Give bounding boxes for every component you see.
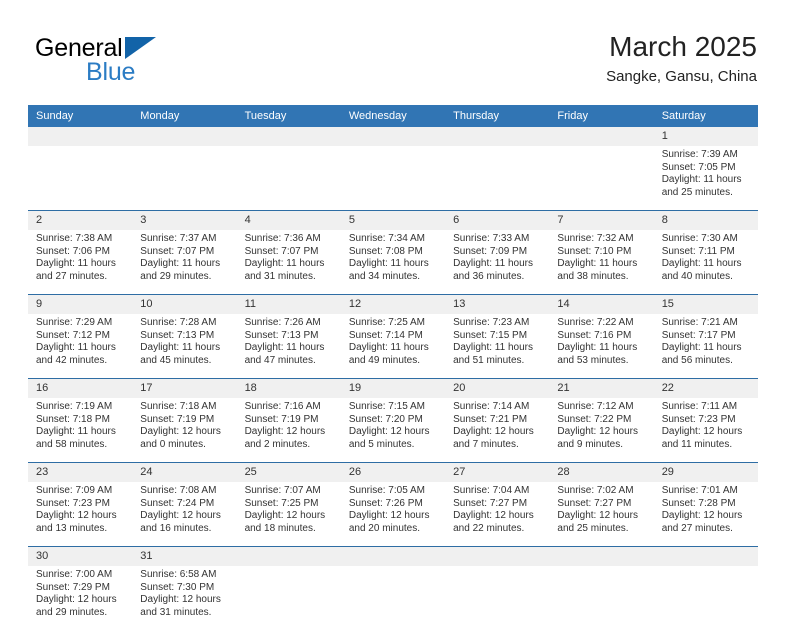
daylight-text-line1: Daylight: 12 hours — [36, 510, 126, 523]
daylight-text-line2: and 9 minutes. — [557, 439, 647, 452]
day-info: Sunrise: 7:00 AM Sunset: 7:29 PM Dayligh… — [28, 566, 132, 630]
sunset-text: Sunset: 7:20 PM — [349, 414, 439, 427]
sunset-text: Sunset: 7:10 PM — [557, 246, 647, 259]
sunrise-text: Sunrise: 7:38 AM — [36, 233, 126, 246]
day-number: 24 — [132, 463, 236, 482]
sunset-text: Sunset: 7:30 PM — [140, 582, 230, 595]
day-number: 15 — [654, 295, 758, 314]
daylight-text-line2: and 5 minutes. — [349, 439, 439, 452]
day-number — [445, 547, 549, 566]
calendar-day-cell[interactable] — [549, 547, 653, 630]
day-number: 21 — [549, 379, 653, 398]
day-number: 11 — [237, 295, 341, 314]
sunrise-text: Sunrise: 7:37 AM — [140, 233, 230, 246]
day-number: 17 — [132, 379, 236, 398]
day-info: Sunrise: 7:38 AM Sunset: 7:06 PM Dayligh… — [28, 230, 132, 294]
page-subtitle: Sangke, Gansu, China — [606, 66, 757, 88]
daylight-text-line1: Daylight: 11 hours — [36, 258, 126, 271]
daylight-text-line2: and 38 minutes. — [557, 271, 647, 284]
day-number: 1 — [654, 127, 758, 146]
daylight-text-line1: Daylight: 11 hours — [245, 342, 335, 355]
sunrise-text: Sunrise: 7:01 AM — [662, 485, 752, 498]
sunrise-text: Sunrise: 7:11 AM — [662, 401, 752, 414]
day-info: Sunrise: 7:18 AM Sunset: 7:19 PM Dayligh… — [132, 398, 236, 462]
daylight-text-line2: and 45 minutes. — [140, 355, 230, 368]
daylight-text-line2: and 40 minutes. — [662, 271, 752, 284]
calendar-day-cell[interactable]: 17 Sunrise: 7:18 AM Sunset: 7:19 PM Dayl… — [132, 379, 236, 463]
day-number: 23 — [28, 463, 132, 482]
daylight-text-line2: and 25 minutes. — [557, 523, 647, 536]
calendar-day-cell[interactable]: 29 Sunrise: 7:01 AM Sunset: 7:28 PM Dayl… — [654, 463, 758, 547]
sunset-text: Sunset: 7:05 PM — [662, 162, 752, 175]
calendar-day-cell[interactable] — [654, 547, 758, 630]
sunrise-text: Sunrise: 7:16 AM — [245, 401, 335, 414]
sunrise-text: Sunrise: 7:26 AM — [245, 317, 335, 330]
day-number: 12 — [341, 295, 445, 314]
logo-text-blue: Blue — [86, 58, 135, 87]
day-number: 14 — [549, 295, 653, 314]
daylight-text-line2: and 49 minutes. — [349, 355, 439, 368]
day-info: Sunrise: 7:02 AM Sunset: 7:27 PM Dayligh… — [549, 482, 653, 546]
sunset-text: Sunset: 7:17 PM — [662, 330, 752, 343]
logo-triangle-icon — [125, 37, 156, 59]
sunset-text: Sunset: 7:26 PM — [349, 498, 439, 511]
sunset-text: Sunset: 7:27 PM — [557, 498, 647, 511]
day-number: 6 — [445, 211, 549, 230]
daylight-text-line2: and 22 minutes. — [453, 523, 543, 536]
daylight-text-line2: and 27 minutes. — [36, 271, 126, 284]
calendar-day-cell[interactable] — [237, 127, 341, 211]
daylight-text-line1: Daylight: 12 hours — [245, 510, 335, 523]
day-info: Sunrise: 7:22 AM Sunset: 7:16 PM Dayligh… — [549, 314, 653, 378]
daylight-text-line1: Daylight: 11 hours — [140, 258, 230, 271]
calendar-day-cell[interactable]: 26 Sunrise: 7:05 AM Sunset: 7:26 PM Dayl… — [341, 463, 445, 547]
weekday-header-wednesday: Wednesday — [341, 105, 445, 127]
day-number — [341, 547, 445, 566]
daylight-text-line2: and 53 minutes. — [557, 355, 647, 368]
day-info: Sunrise: 7:15 AM Sunset: 7:20 PM Dayligh… — [341, 398, 445, 462]
sunrise-sunset-calendar: Sunday Monday Tuesday Wednesday Thursday… — [28, 105, 758, 630]
day-number — [549, 547, 653, 566]
calendar-day-cell[interactable]: 8 Sunrise: 7:30 AM Sunset: 7:11 PM Dayli… — [654, 211, 758, 295]
day-info: Sunrise: 7:19 AM Sunset: 7:18 PM Dayligh… — [28, 398, 132, 462]
day-info — [445, 146, 549, 210]
day-number: 19 — [341, 379, 445, 398]
daylight-text-line2: and 18 minutes. — [245, 523, 335, 536]
daylight-text-line1: Daylight: 12 hours — [453, 426, 543, 439]
day-number: 4 — [237, 211, 341, 230]
daylight-text-line2: and 25 minutes. — [662, 187, 752, 200]
calendar-week-row: 2 Sunrise: 7:38 AM Sunset: 7:06 PM Dayli… — [28, 211, 758, 295]
day-number — [445, 127, 549, 146]
day-number — [237, 127, 341, 146]
day-number: 5 — [341, 211, 445, 230]
sunrise-text: Sunrise: 7:34 AM — [349, 233, 439, 246]
daylight-text-line2: and 56 minutes. — [662, 355, 752, 368]
day-info: Sunrise: 7:12 AM Sunset: 7:22 PM Dayligh… — [549, 398, 653, 462]
sunrise-text: Sunrise: 7:14 AM — [453, 401, 543, 414]
calendar-day-cell[interactable] — [445, 127, 549, 211]
daylight-text-line2: and 31 minutes. — [245, 271, 335, 284]
daylight-text-line2: and 11 minutes. — [662, 439, 752, 452]
calendar-day-cell[interactable]: 24 Sunrise: 7:08 AM Sunset: 7:24 PM Dayl… — [132, 463, 236, 547]
day-number — [132, 127, 236, 146]
daylight-text-line1: Daylight: 12 hours — [557, 426, 647, 439]
sunset-text: Sunset: 7:08 PM — [349, 246, 439, 259]
day-info: Sunrise: 7:37 AM Sunset: 7:07 PM Dayligh… — [132, 230, 236, 294]
sunset-text: Sunset: 7:06 PM — [36, 246, 126, 259]
sunrise-text: Sunrise: 6:58 AM — [140, 569, 230, 582]
day-number: 31 — [132, 547, 236, 566]
calendar-day-cell[interactable]: 28 Sunrise: 7:02 AM Sunset: 7:27 PM Dayl… — [549, 463, 653, 547]
sunrise-text: Sunrise: 7:12 AM — [557, 401, 647, 414]
day-info — [341, 146, 445, 210]
daylight-text-line2: and 16 minutes. — [140, 523, 230, 536]
day-info: Sunrise: 7:11 AM Sunset: 7:23 PM Dayligh… — [654, 398, 758, 462]
sunset-text: Sunset: 7:07 PM — [140, 246, 230, 259]
day-info — [237, 146, 341, 210]
daylight-text-line1: Daylight: 12 hours — [36, 594, 126, 607]
daylight-text-line2: and 29 minutes. — [36, 607, 126, 620]
calendar-day-cell[interactable]: 6 Sunrise: 7:33 AM Sunset: 7:09 PM Dayli… — [445, 211, 549, 295]
day-number: 2 — [28, 211, 132, 230]
sunrise-text: Sunrise: 7:32 AM — [557, 233, 647, 246]
calendar-day-cell[interactable]: 31 Sunrise: 6:58 AM Sunset: 7:30 PM Dayl… — [132, 547, 236, 630]
daylight-text-line1: Daylight: 12 hours — [349, 510, 439, 523]
weekday-header-thursday: Thursday — [445, 105, 549, 127]
weekday-header-saturday: Saturday — [654, 105, 758, 127]
day-info: Sunrise: 6:58 AM Sunset: 7:30 PM Dayligh… — [132, 566, 236, 630]
sunrise-text: Sunrise: 7:19 AM — [36, 401, 126, 414]
sunrise-text: Sunrise: 7:00 AM — [36, 569, 126, 582]
calendar-day-cell[interactable]: 13 Sunrise: 7:23 AM Sunset: 7:15 PM Dayl… — [445, 295, 549, 379]
day-info: Sunrise: 7:25 AM Sunset: 7:14 PM Dayligh… — [341, 314, 445, 378]
daylight-text-line2: and 27 minutes. — [662, 523, 752, 536]
daylight-text-line1: Daylight: 11 hours — [245, 258, 335, 271]
sunrise-text: Sunrise: 7:25 AM — [349, 317, 439, 330]
calendar-day-cell[interactable]: 12 Sunrise: 7:25 AM Sunset: 7:14 PM Dayl… — [341, 295, 445, 379]
day-info: Sunrise: 7:26 AM Sunset: 7:13 PM Dayligh… — [237, 314, 341, 378]
daylight-text-line2: and 51 minutes. — [453, 355, 543, 368]
calendar-day-cell[interactable]: 3 Sunrise: 7:37 AM Sunset: 7:07 PM Dayli… — [132, 211, 236, 295]
day-info — [132, 146, 236, 210]
title-block: March 2025 Sangke, Gansu, China — [606, 30, 757, 88]
daylight-text-line2: and 13 minutes. — [36, 523, 126, 536]
calendar-day-cell[interactable]: 10 Sunrise: 7:28 AM Sunset: 7:13 PM Dayl… — [132, 295, 236, 379]
calendar-body: 1 Sunrise: 7:39 AM Sunset: 7:05 PM Dayli… — [28, 127, 758, 630]
daylight-text-line2: and 36 minutes. — [453, 271, 543, 284]
day-number: 29 — [654, 463, 758, 482]
sunrise-text: Sunrise: 7:29 AM — [36, 317, 126, 330]
day-info: Sunrise: 7:05 AM Sunset: 7:26 PM Dayligh… — [341, 482, 445, 546]
calendar-day-cell[interactable]: 16 Sunrise: 7:19 AM Sunset: 7:18 PM Dayl… — [28, 379, 132, 463]
day-number: 7 — [549, 211, 653, 230]
day-info: Sunrise: 7:32 AM Sunset: 7:10 PM Dayligh… — [549, 230, 653, 294]
sunset-text: Sunset: 7:19 PM — [245, 414, 335, 427]
calendar-day-cell[interactable] — [28, 127, 132, 211]
calendar-week-row: 16 Sunrise: 7:19 AM Sunset: 7:18 PM Dayl… — [28, 379, 758, 463]
day-number — [28, 127, 132, 146]
day-info: Sunrise: 7:01 AM Sunset: 7:28 PM Dayligh… — [654, 482, 758, 546]
day-info: Sunrise: 7:08 AM Sunset: 7:24 PM Dayligh… — [132, 482, 236, 546]
calendar-day-cell[interactable]: 30 Sunrise: 7:00 AM Sunset: 7:29 PM Dayl… — [28, 547, 132, 630]
day-info: Sunrise: 7:34 AM Sunset: 7:08 PM Dayligh… — [341, 230, 445, 294]
day-info: Sunrise: 7:14 AM Sunset: 7:21 PM Dayligh… — [445, 398, 549, 462]
sunrise-text: Sunrise: 7:15 AM — [349, 401, 439, 414]
day-number: 26 — [341, 463, 445, 482]
sunset-text: Sunset: 7:29 PM — [36, 582, 126, 595]
sunset-text: Sunset: 7:14 PM — [349, 330, 439, 343]
day-info — [445, 566, 549, 630]
daylight-text-line1: Daylight: 11 hours — [662, 258, 752, 271]
calendar-day-cell[interactable]: 18 Sunrise: 7:16 AM Sunset: 7:19 PM Dayl… — [237, 379, 341, 463]
day-number: 27 — [445, 463, 549, 482]
page-title: March 2025 — [606, 30, 757, 64]
sunset-text: Sunset: 7:24 PM — [140, 498, 230, 511]
daylight-text-line2: and 20 minutes. — [349, 523, 439, 536]
sunrise-text: Sunrise: 7:22 AM — [557, 317, 647, 330]
calendar-day-cell[interactable]: 22 Sunrise: 7:11 AM Sunset: 7:23 PM Dayl… — [654, 379, 758, 463]
day-number: 8 — [654, 211, 758, 230]
sunrise-text: Sunrise: 7:36 AM — [245, 233, 335, 246]
day-number — [549, 127, 653, 146]
day-info: Sunrise: 7:04 AM Sunset: 7:27 PM Dayligh… — [445, 482, 549, 546]
calendar-week-row: 30 Sunrise: 7:00 AM Sunset: 7:29 PM Dayl… — [28, 547, 758, 630]
sunrise-text: Sunrise: 7:21 AM — [662, 317, 752, 330]
calendar-week-row: 1 Sunrise: 7:39 AM Sunset: 7:05 PM Dayli… — [28, 127, 758, 211]
calendar-week-row: 9 Sunrise: 7:29 AM Sunset: 7:12 PM Dayli… — [28, 295, 758, 379]
daylight-text-line2: and 34 minutes. — [349, 271, 439, 284]
sunset-text: Sunset: 7:21 PM — [453, 414, 543, 427]
day-info: Sunrise: 7:09 AM Sunset: 7:23 PM Dayligh… — [28, 482, 132, 546]
calendar-week-row: 23 Sunrise: 7:09 AM Sunset: 7:23 PM Dayl… — [28, 463, 758, 547]
sunset-text: Sunset: 7:13 PM — [140, 330, 230, 343]
day-info — [28, 146, 132, 210]
weekday-header-monday: Monday — [132, 105, 236, 127]
daylight-text-line1: Daylight: 12 hours — [140, 426, 230, 439]
day-number: 28 — [549, 463, 653, 482]
sunset-text: Sunset: 7:07 PM — [245, 246, 335, 259]
day-info: Sunrise: 7:36 AM Sunset: 7:07 PM Dayligh… — [237, 230, 341, 294]
calendar-day-cell[interactable]: 23 Sunrise: 7:09 AM Sunset: 7:23 PM Dayl… — [28, 463, 132, 547]
weekday-header-sunday: Sunday — [28, 105, 132, 127]
daylight-text-line2: and 47 minutes. — [245, 355, 335, 368]
sunset-text: Sunset: 7:11 PM — [662, 246, 752, 259]
sunrise-text: Sunrise: 7:05 AM — [349, 485, 439, 498]
sunset-text: Sunset: 7:23 PM — [662, 414, 752, 427]
sunrise-text: Sunrise: 7:04 AM — [453, 485, 543, 498]
daylight-text-line1: Daylight: 12 hours — [349, 426, 439, 439]
day-info: Sunrise: 7:16 AM Sunset: 7:19 PM Dayligh… — [237, 398, 341, 462]
daylight-text-line1: Daylight: 11 hours — [662, 342, 752, 355]
calendar-day-cell[interactable]: 9 Sunrise: 7:29 AM Sunset: 7:12 PM Dayli… — [28, 295, 132, 379]
sunset-text: Sunset: 7:15 PM — [453, 330, 543, 343]
daylight-text-line1: Daylight: 12 hours — [662, 510, 752, 523]
calendar-day-cell[interactable]: 25 Sunrise: 7:07 AM Sunset: 7:25 PM Dayl… — [237, 463, 341, 547]
sunset-text: Sunset: 7:09 PM — [453, 246, 543, 259]
calendar-header-row: Sunday Monday Tuesday Wednesday Thursday… — [28, 105, 758, 127]
day-number — [654, 547, 758, 566]
sunrise-text: Sunrise: 7:07 AM — [245, 485, 335, 498]
sunrise-text: Sunrise: 7:02 AM — [557, 485, 647, 498]
calendar-day-cell[interactable]: 5 Sunrise: 7:34 AM Sunset: 7:08 PM Dayli… — [341, 211, 445, 295]
calendar-day-cell[interactable]: 14 Sunrise: 7:22 AM Sunset: 7:16 PM Dayl… — [549, 295, 653, 379]
sunset-text: Sunset: 7:23 PM — [36, 498, 126, 511]
calendar-day-cell[interactable]: 4 Sunrise: 7:36 AM Sunset: 7:07 PM Dayli… — [237, 211, 341, 295]
day-info: Sunrise: 7:28 AM Sunset: 7:13 PM Dayligh… — [132, 314, 236, 378]
day-number — [237, 547, 341, 566]
calendar-day-cell[interactable] — [132, 127, 236, 211]
weekday-header-friday: Friday — [549, 105, 653, 127]
sunset-text: Sunset: 7:25 PM — [245, 498, 335, 511]
calendar-day-cell[interactable] — [549, 127, 653, 211]
sunset-text: Sunset: 7:18 PM — [36, 414, 126, 427]
daylight-text-line1: Daylight: 11 hours — [349, 342, 439, 355]
calendar-day-cell[interactable]: 1 Sunrise: 7:39 AM Sunset: 7:05 PM Dayli… — [654, 127, 758, 211]
calendar-page: General Blue March 2025 Sangke, Gansu, C… — [0, 0, 792, 612]
daylight-text-line1: Daylight: 11 hours — [453, 258, 543, 271]
calendar-day-cell[interactable]: 15 Sunrise: 7:21 AM Sunset: 7:17 PM Dayl… — [654, 295, 758, 379]
calendar-day-cell[interactable] — [237, 547, 341, 630]
page-header: General Blue March 2025 Sangke, Gansu, C… — [35, 30, 757, 98]
day-info: Sunrise: 7:29 AM Sunset: 7:12 PM Dayligh… — [28, 314, 132, 378]
day-number: 16 — [28, 379, 132, 398]
daylight-text-line2: and 42 minutes. — [36, 355, 126, 368]
day-info: Sunrise: 7:23 AM Sunset: 7:15 PM Dayligh… — [445, 314, 549, 378]
sunrise-text: Sunrise: 7:08 AM — [140, 485, 230, 498]
calendar-day-cell[interactable]: 2 Sunrise: 7:38 AM Sunset: 7:06 PM Dayli… — [28, 211, 132, 295]
day-info: Sunrise: 7:33 AM Sunset: 7:09 PM Dayligh… — [445, 230, 549, 294]
sunset-text: Sunset: 7:19 PM — [140, 414, 230, 427]
daylight-text-line2: and 29 minutes. — [140, 271, 230, 284]
calendar-day-cell[interactable]: 7 Sunrise: 7:32 AM Sunset: 7:10 PM Dayli… — [549, 211, 653, 295]
day-info — [341, 566, 445, 630]
daylight-text-line2: and 0 minutes. — [140, 439, 230, 452]
day-number: 3 — [132, 211, 236, 230]
day-info — [549, 146, 653, 210]
general-blue-logo[interactable]: General Blue — [35, 34, 195, 90]
sunset-text: Sunset: 7:12 PM — [36, 330, 126, 343]
daylight-text-line2: and 31 minutes. — [140, 607, 230, 620]
daylight-text-line1: Daylight: 12 hours — [245, 426, 335, 439]
calendar-day-cell[interactable]: 21 Sunrise: 7:12 AM Sunset: 7:22 PM Dayl… — [549, 379, 653, 463]
calendar-day-cell[interactable]: 19 Sunrise: 7:15 AM Sunset: 7:20 PM Dayl… — [341, 379, 445, 463]
day-number: 9 — [28, 295, 132, 314]
day-number — [341, 127, 445, 146]
day-info: Sunrise: 7:07 AM Sunset: 7:25 PM Dayligh… — [237, 482, 341, 546]
sunset-text: Sunset: 7:27 PM — [453, 498, 543, 511]
sunrise-text: Sunrise: 7:30 AM — [662, 233, 752, 246]
calendar-day-cell[interactable] — [341, 547, 445, 630]
day-info — [549, 566, 653, 630]
calendar-day-cell[interactable]: 20 Sunrise: 7:14 AM Sunset: 7:21 PM Dayl… — [445, 379, 549, 463]
sunset-text: Sunset: 7:22 PM — [557, 414, 647, 427]
weekday-header-tuesday: Tuesday — [237, 105, 341, 127]
daylight-text-line1: Daylight: 11 hours — [36, 342, 126, 355]
day-info — [237, 566, 341, 630]
sunrise-text: Sunrise: 7:33 AM — [453, 233, 543, 246]
sunrise-text: Sunrise: 7:18 AM — [140, 401, 230, 414]
daylight-text-line2: and 58 minutes. — [36, 439, 126, 452]
daylight-text-line1: Daylight: 11 hours — [662, 174, 752, 187]
day-number: 13 — [445, 295, 549, 314]
daylight-text-line1: Daylight: 12 hours — [140, 594, 230, 607]
daylight-text-line1: Daylight: 11 hours — [557, 342, 647, 355]
sunset-text: Sunset: 7:13 PM — [245, 330, 335, 343]
day-info — [654, 566, 758, 630]
sunrise-text: Sunrise: 7:09 AM — [36, 485, 126, 498]
day-info: Sunrise: 7:21 AM Sunset: 7:17 PM Dayligh… — [654, 314, 758, 378]
day-number: 10 — [132, 295, 236, 314]
sunset-text: Sunset: 7:28 PM — [662, 498, 752, 511]
daylight-text-line1: Daylight: 11 hours — [453, 342, 543, 355]
day-number: 25 — [237, 463, 341, 482]
daylight-text-line1: Daylight: 11 hours — [140, 342, 230, 355]
daylight-text-line1: Daylight: 12 hours — [140, 510, 230, 523]
sunrise-text: Sunrise: 7:28 AM — [140, 317, 230, 330]
calendar-day-cell[interactable] — [445, 547, 549, 630]
day-number: 30 — [28, 547, 132, 566]
sunrise-text: Sunrise: 7:39 AM — [662, 149, 752, 162]
daylight-text-line1: Daylight: 11 hours — [349, 258, 439, 271]
daylight-text-line1: Daylight: 11 hours — [36, 426, 126, 439]
day-info: Sunrise: 7:39 AM Sunset: 7:05 PM Dayligh… — [654, 146, 758, 210]
sunset-text: Sunset: 7:16 PM — [557, 330, 647, 343]
daylight-text-line1: Daylight: 12 hours — [557, 510, 647, 523]
calendar-day-cell[interactable]: 11 Sunrise: 7:26 AM Sunset: 7:13 PM Dayl… — [237, 295, 341, 379]
daylight-text-line2: and 2 minutes. — [245, 439, 335, 452]
daylight-text-line1: Daylight: 12 hours — [453, 510, 543, 523]
calendar-day-cell[interactable] — [341, 127, 445, 211]
day-number: 20 — [445, 379, 549, 398]
daylight-text-line2: and 7 minutes. — [453, 439, 543, 452]
day-info: Sunrise: 7:30 AM Sunset: 7:11 PM Dayligh… — [654, 230, 758, 294]
calendar-day-cell[interactable]: 27 Sunrise: 7:04 AM Sunset: 7:27 PM Dayl… — [445, 463, 549, 547]
day-number: 18 — [237, 379, 341, 398]
daylight-text-line1: Daylight: 11 hours — [557, 258, 647, 271]
day-number: 22 — [654, 379, 758, 398]
daylight-text-line1: Daylight: 12 hours — [662, 426, 752, 439]
sunrise-text: Sunrise: 7:23 AM — [453, 317, 543, 330]
